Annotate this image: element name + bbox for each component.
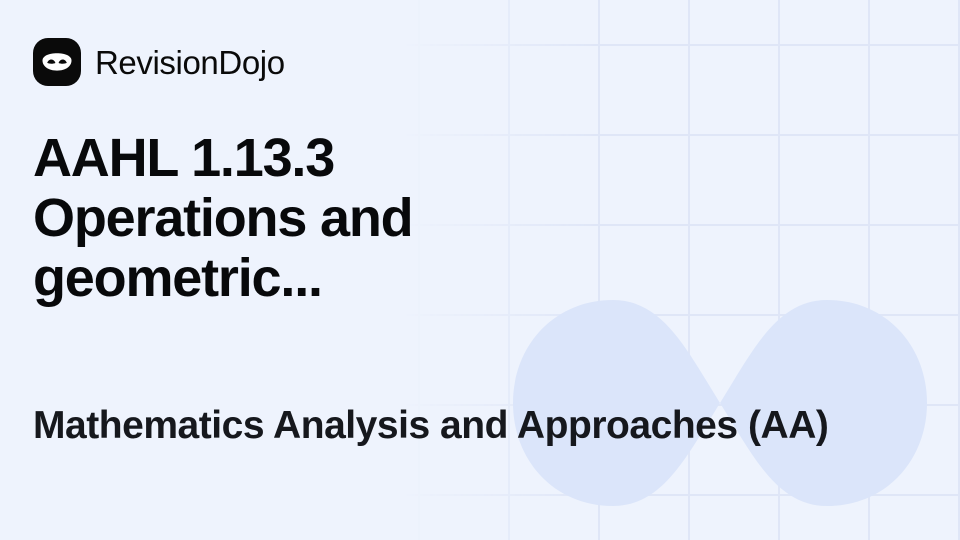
page-title: AAHL 1.13.3 Operations and geometric... bbox=[33, 128, 593, 308]
topic-cover-card: RevisionDojo AAHL 1.13.3 Operations and … bbox=[0, 0, 960, 540]
brand-logo: RevisionDojo bbox=[33, 38, 285, 86]
page-subtitle: Mathematics Analysis and Approaches (AA) bbox=[33, 404, 933, 448]
infinity-icon bbox=[505, 292, 935, 514]
brand-wordmark: RevisionDojo bbox=[95, 46, 285, 79]
ninja-mask-icon bbox=[33, 38, 81, 86]
